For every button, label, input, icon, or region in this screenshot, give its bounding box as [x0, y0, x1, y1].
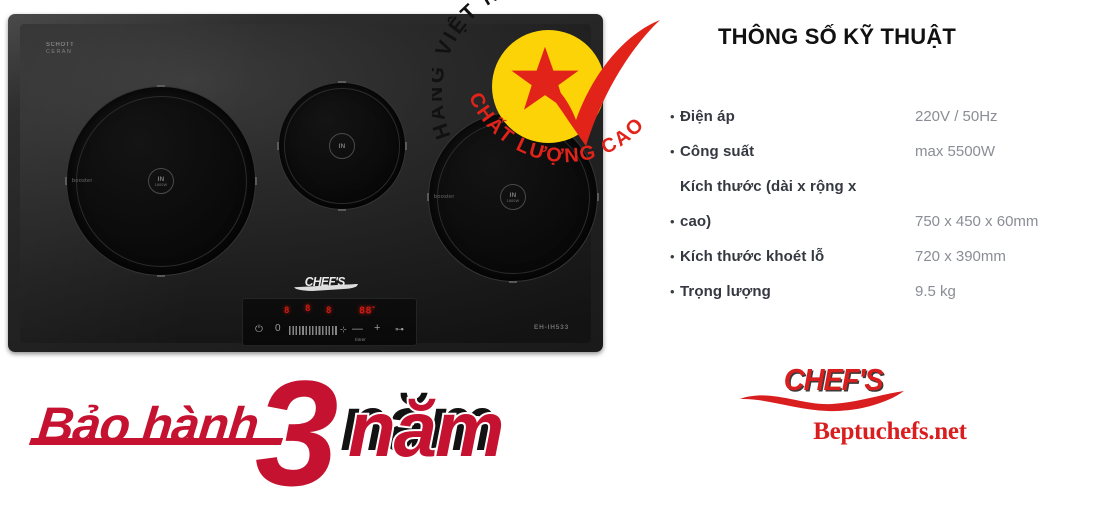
- page-title: THÔNG SỐ KỸ THUẬT: [718, 24, 956, 50]
- model-number: EH-IH533: [534, 324, 569, 331]
- burner-tick-left: [427, 193, 429, 201]
- spec-bullet: •: [664, 279, 680, 305]
- chefs-logo-on-glass: CHEF'S: [288, 270, 362, 292]
- burner-tick-right: [405, 142, 407, 150]
- spec-value: 750 x 450 x 60mm: [915, 209, 1094, 235]
- spec-label: Công suất: [680, 139, 915, 165]
- zone-display-2: 8: [305, 304, 311, 314]
- spec-bullet: •: [664, 104, 680, 130]
- spec-list: •Điện áp220V / 50Hz•Công suấtmax 5500WKí…: [664, 104, 1094, 314]
- burner-tick-right: [597, 193, 599, 201]
- induction-power: 1800W: [155, 183, 167, 187]
- induction-badge: IN 1800W: [148, 168, 174, 194]
- spec-row: •Điện áp220V / 50Hz: [664, 104, 1094, 130]
- spec-bullet: •: [664, 139, 680, 165]
- spec-label: Trọng lượng: [680, 279, 915, 305]
- induction-badge: IN: [329, 133, 355, 159]
- spec-row: •cao)750 x 450 x 60mm: [664, 209, 1094, 235]
- power-button-icon[interactable]: ⏻: [255, 325, 263, 335]
- zone-display-1: 8: [284, 306, 290, 316]
- burner-tick-top: [157, 85, 165, 87]
- burner-tick-top: [338, 81, 346, 83]
- vietnam-high-quality-badge: HÀNG VIỆT NAM CHẤT LƯỢNG CAO: [432, 0, 662, 182]
- specifications-panel: THÔNG SỐ KỸ THUẬT •Điện áp220V / 50Hz•Cô…: [640, 0, 1100, 365]
- burner-zone-center: IN: [278, 82, 406, 210]
- spec-value: 220V / 50Hz: [915, 104, 1094, 130]
- burner-tick-right: [255, 177, 257, 185]
- burner-tick-left: [277, 142, 279, 150]
- product-image: SCHOTT CERAN booster IN 1800W: [0, 0, 620, 365]
- burner-tick-bottom: [157, 275, 165, 277]
- induction-power: 1800W: [507, 199, 519, 203]
- warranty-unit: năm: [348, 390, 502, 468]
- schott-ceran-logo: SCHOTT CERAN: [46, 42, 74, 56]
- spec-value: 9.5 kg: [915, 279, 1094, 305]
- spec-label: Điện áp: [680, 104, 915, 130]
- induction-label: IN: [509, 192, 516, 199]
- website-text: Beptuchefs.net: [740, 418, 1040, 446]
- pot-icon: ⊹: [340, 325, 347, 335]
- spec-label: Kích thước khoét lỗ: [680, 244, 915, 270]
- spec-row: •Trọng lượng9.5 kg: [664, 279, 1094, 305]
- spec-value: 720 x 390mm: [915, 244, 1094, 270]
- spec-label: Kích thước (dài x rộng x: [680, 174, 915, 200]
- spec-bullet: •: [664, 244, 680, 270]
- spec-row: •Công suấtmax 5500W: [664, 139, 1094, 165]
- schott-brand-text: SCHOTT: [46, 42, 74, 48]
- chefs-swoosh-icon: [736, 390, 908, 412]
- power-level-value: 0: [275, 324, 281, 334]
- burner-tick-bottom: [509, 281, 517, 283]
- burner-tick-left: [65, 177, 67, 185]
- induction-label: IN: [157, 176, 164, 183]
- touch-control-panel[interactable]: 8 8 8 88= ⏻ 0 ⊹ — + timer ⊶: [242, 298, 417, 346]
- zone-display-3: 8: [326, 306, 332, 316]
- burner-zone-left: booster IN 1800W: [66, 86, 256, 276]
- warranty-text: Bảo hành: [35, 396, 261, 454]
- induction-label: IN: [338, 143, 345, 150]
- warranty-banner: Bảo hành 3 năm năm: [0, 360, 620, 500]
- svg-text:CHẤT LƯỢNG CAO: CHẤT LƯỢNG CAO: [464, 89, 649, 167]
- spec-row: •Kích thước khoét lỗ720 x 390mm: [664, 244, 1094, 270]
- spec-bullet: •: [664, 209, 680, 235]
- timer-plus-button[interactable]: +: [374, 323, 380, 333]
- spec-label: cao): [680, 209, 915, 235]
- booster-label: booster: [72, 178, 92, 184]
- child-lock-icon[interactable]: ⊶: [395, 324, 404, 334]
- spec-row: Kích thước (dài x rộng x: [664, 174, 1094, 200]
- induction-badge: IN 1800W: [500, 184, 526, 210]
- ceran-brand-text: CERAN: [46, 49, 74, 56]
- badge-arc-text: HÀNG VIỆT NAM CHẤT LƯỢNG CAO: [432, 0, 662, 182]
- warranty-years-number: 3: [255, 358, 332, 508]
- timer-minus-button[interactable]: —: [352, 324, 363, 334]
- brand-block: CHEF'S Beptuchefs.net: [740, 358, 1040, 468]
- booster-label: booster: [434, 194, 454, 200]
- timer-display: 88=: [359, 305, 376, 316]
- power-slider[interactable]: [289, 326, 337, 335]
- badge-bottom-arc-text: CHẤT LƯỢNG CAO: [464, 89, 649, 167]
- spec-value: max 5500W: [915, 139, 1094, 165]
- burner-tick-bottom: [338, 209, 346, 211]
- timer-label: timer: [355, 335, 366, 345]
